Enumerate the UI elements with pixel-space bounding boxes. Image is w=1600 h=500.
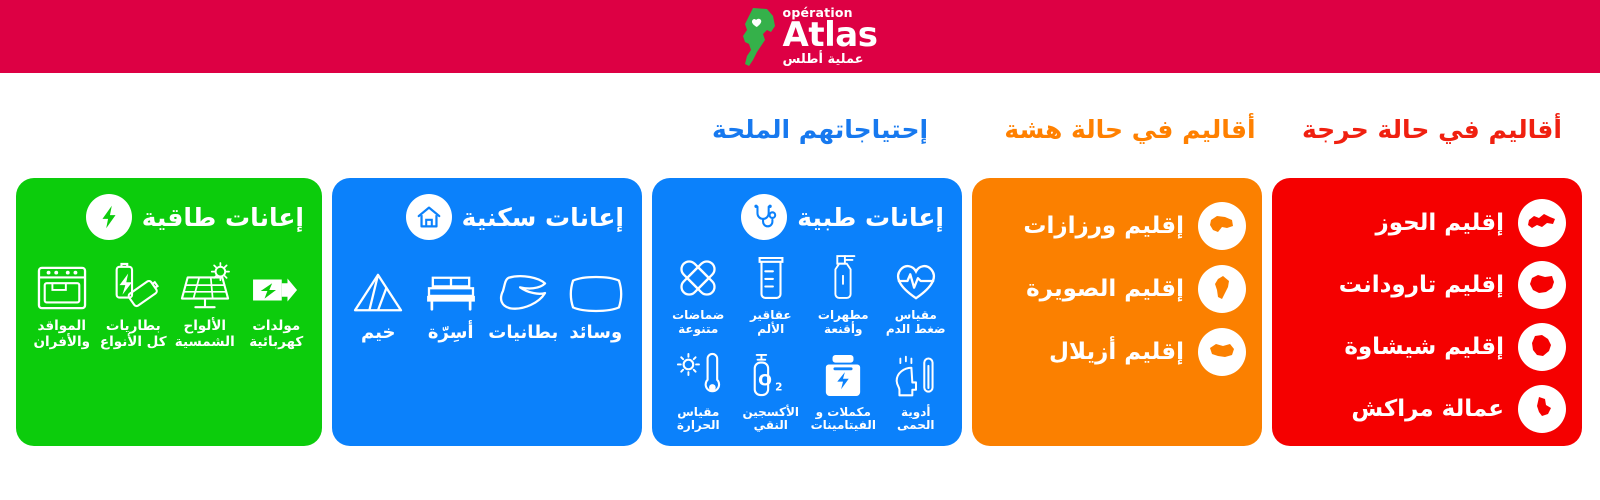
lightning-bolt-icon bbox=[86, 194, 132, 240]
card-housing-aid[interactable]: إعانات سكنية وسائد bbox=[332, 178, 642, 446]
list-item-label: أدويةالحمى bbox=[897, 406, 934, 434]
logo-atlas-word: Atlas bbox=[783, 18, 878, 52]
stove-oven-icon bbox=[35, 254, 89, 312]
heading-urgent-needs: إحتياجاتهم الملحة bbox=[670, 108, 970, 152]
fever-head-icon bbox=[891, 347, 941, 399]
list-item[interactable]: O 2 الأكسجينالنقي bbox=[736, 347, 806, 434]
heading-critical-provinces: أقاليم في حالة حرجة bbox=[1282, 108, 1582, 152]
batteries-icon bbox=[105, 254, 161, 312]
list-item-label: المواقدوالأفران bbox=[34, 319, 90, 350]
tent-icon bbox=[350, 258, 406, 316]
list-item[interactable]: أسِرّة bbox=[415, 258, 488, 344]
list-item-label: خيم bbox=[361, 323, 395, 344]
list-item-label: عمالة مراكش bbox=[1351, 396, 1504, 422]
bed-icon bbox=[423, 258, 479, 316]
list-item-label: وسائد bbox=[569, 323, 622, 344]
medical-items-row-1: مقياسضغط الدم مطهراتوأقنعة bbox=[652, 240, 962, 337]
list-item[interactable]: بطانيات bbox=[487, 258, 560, 344]
cards-row: إقليم الحوز إقليم تارودانت إقليم شيشاوة bbox=[0, 178, 1600, 448]
energy-card-header: إعانات طاقية bbox=[16, 178, 322, 240]
list-item[interactable]: إقليم الصويرة bbox=[988, 257, 1246, 320]
spray-bottle-icon bbox=[824, 250, 862, 302]
list-item[interactable]: إقليم الحوز bbox=[1288, 192, 1566, 254]
blanket-icon bbox=[495, 258, 551, 316]
solar-panel-icon bbox=[176, 254, 234, 312]
list-item-label: الأكسجينالنقي bbox=[742, 406, 799, 434]
morocco-map-heart-icon bbox=[723, 6, 781, 68]
list-item[interactable]: المواقدوالأفران bbox=[26, 254, 98, 350]
list-item-label: بطانيات bbox=[488, 323, 558, 344]
list-item[interactable]: عقاقيرالألم bbox=[736, 250, 806, 337]
list-item-label: إقليم الحوز bbox=[1375, 210, 1504, 236]
medical-items-row-2: أدويةالحمى مكملات والفيتامينات bbox=[652, 337, 962, 434]
list-item[interactable]: إقليم ورزازات bbox=[988, 194, 1246, 257]
list-item-label: مقياسضغط الدم bbox=[886, 309, 946, 337]
critical-province-list: إقليم الحوز إقليم تارودانت إقليم شيشاوة bbox=[1272, 178, 1582, 440]
list-item[interactable]: مطهراتوأقنعة bbox=[808, 250, 878, 337]
list-item-label: مولداتكهربائية bbox=[249, 319, 303, 350]
province-map-haouz-icon bbox=[1518, 199, 1566, 247]
card-title: إعانات سكنية bbox=[462, 203, 624, 232]
list-item[interactable]: مكملات والفيتامينات bbox=[808, 347, 878, 434]
list-item-label: إقليم ورزازات bbox=[1023, 213, 1184, 239]
list-item-label: أسِرّة bbox=[428, 323, 474, 344]
pillow-icon bbox=[568, 258, 624, 316]
svg-text:O: O bbox=[758, 370, 772, 389]
fragile-province-list: إقليم ورزازات إقليم الصويرة إقليم أزيلال bbox=[972, 178, 1262, 383]
list-item[interactable]: مقياسضغط الدم bbox=[881, 250, 951, 337]
province-map-essaouira-icon bbox=[1198, 265, 1246, 313]
province-map-azilal-icon bbox=[1198, 328, 1246, 376]
header-banner: opération Atlas عملية أطلس bbox=[0, 0, 1600, 73]
oxygen-tank-icon: O 2 bbox=[749, 347, 793, 399]
list-item[interactable]: أدويةالحمى bbox=[881, 347, 951, 434]
list-item-label: إقليم تارودانت bbox=[1339, 272, 1504, 298]
infographic-page: opération Atlas عملية أطلس أقاليم في حال… bbox=[0, 0, 1600, 500]
list-item-label: مطهراتوأقنعة bbox=[818, 309, 869, 337]
operation-atlas-logo: opération Atlas عملية أطلس bbox=[685, 0, 915, 73]
list-item[interactable]: ضماضاتمتنوعة bbox=[663, 250, 733, 337]
bandages-icon bbox=[674, 250, 722, 302]
list-item-label: مقياسالحرارة bbox=[677, 406, 720, 434]
province-map-ouarzazate-icon bbox=[1198, 202, 1246, 250]
heading-fragile-provinces: أقاليم في حالة هشة bbox=[980, 108, 1280, 152]
list-item-label: إقليم أزيلال bbox=[1049, 339, 1184, 365]
card-medical-aid[interactable]: إعانات طبية bbox=[652, 178, 962, 446]
medical-card-header: إعانات طبية bbox=[652, 178, 962, 240]
list-item[interactable]: مقياسالحرارة bbox=[663, 347, 733, 434]
logo-arabic-word: عملية أطلس bbox=[783, 53, 864, 66]
card-energy-aid[interactable]: إعانات طاقية bbox=[16, 178, 322, 446]
list-item[interactable]: إقليم شيشاوة bbox=[1288, 316, 1566, 378]
list-item-label: عقاقيرالألم bbox=[750, 309, 792, 337]
svg-text:2: 2 bbox=[775, 381, 782, 393]
list-item[interactable]: وسائد bbox=[560, 258, 633, 344]
card-title: إعانات طبية bbox=[797, 203, 944, 232]
section-headings: أقاليم في حالة حرجة أقاليم في حالة هشة إ… bbox=[0, 108, 1600, 152]
province-map-chichaoua-icon bbox=[1518, 323, 1566, 371]
card-critical-provinces[interactable]: إقليم الحوز إقليم تارودانت إقليم شيشاوة bbox=[1272, 178, 1582, 446]
list-item[interactable]: بطارياتكل الأنواع bbox=[98, 254, 170, 350]
province-map-taroudant-icon bbox=[1518, 261, 1566, 309]
housing-items: وسائد بطانيات bbox=[332, 240, 642, 344]
generator-icon bbox=[249, 254, 303, 312]
list-item-label: الألواحالشمسية bbox=[175, 319, 235, 350]
list-item-label: بطارياتكل الأنواع bbox=[100, 319, 167, 350]
list-item-label: إقليم الصويرة bbox=[1026, 276, 1184, 302]
logo-text-block: opération Atlas عملية أطلس bbox=[777, 7, 878, 66]
card-fragile-provinces[interactable]: إقليم ورزازات إقليم الصويرة إقليم أزيلال bbox=[972, 178, 1262, 446]
heart-pulse-icon bbox=[892, 250, 940, 302]
energy-items: مولداتكهربائية الألواحال bbox=[16, 240, 322, 350]
list-item[interactable]: الألواحالشمسية bbox=[169, 254, 241, 350]
housing-card-header: إعانات سكنية bbox=[332, 178, 642, 240]
province-map-marrakech-icon bbox=[1518, 385, 1566, 433]
card-title: إعانات طاقية bbox=[142, 203, 304, 232]
stethoscope-icon bbox=[741, 194, 787, 240]
list-item-label: مكملات والفيتامينات bbox=[811, 406, 876, 434]
list-item[interactable]: خيم bbox=[342, 258, 415, 344]
list-item[interactable]: إقليم أزيلال bbox=[988, 320, 1246, 383]
list-item-label: إقليم شيشاوة bbox=[1344, 334, 1504, 360]
thermometer-icon bbox=[675, 347, 721, 399]
vitamin-jar-icon bbox=[823, 347, 863, 399]
medicine-beaker-icon bbox=[752, 250, 790, 302]
list-item[interactable]: عمالة مراكش bbox=[1288, 378, 1566, 440]
home-icon bbox=[406, 194, 452, 240]
list-item-label: ضماضاتمتنوعة bbox=[672, 309, 724, 337]
list-item[interactable]: مولداتكهربائية bbox=[241, 254, 313, 350]
list-item[interactable]: إقليم تارودانت bbox=[1288, 254, 1566, 316]
